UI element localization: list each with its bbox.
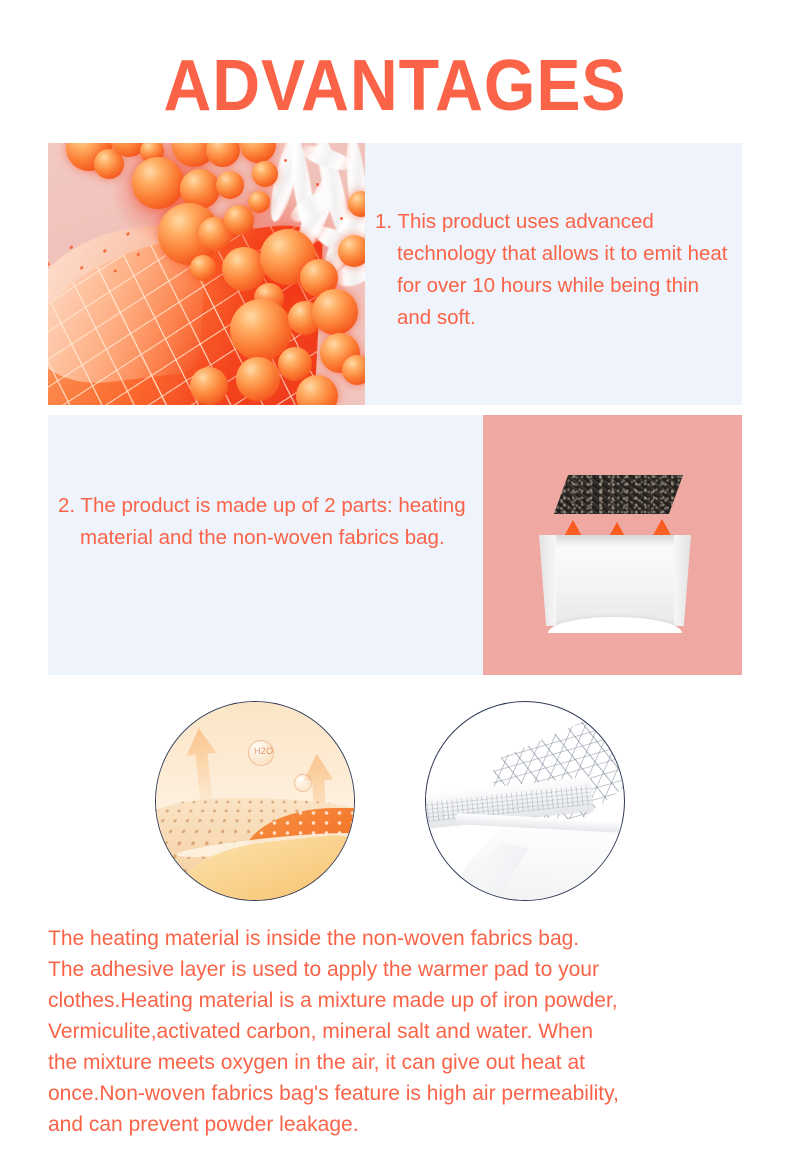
fiber-speck [340,217,343,220]
fiber-speck [284,159,287,162]
heat-sphere [296,375,338,405]
advantage-2-text: 2. The product is made up of 2 parts: he… [58,490,478,554]
heat-sphere [132,157,184,209]
heat-sphere [252,161,278,187]
heat-sphere [190,255,216,281]
description-line: Vermiculite,activated carbon, mineral sa… [48,1016,760,1047]
heat-sphere [278,347,312,381]
heating-material-image [483,415,742,675]
page-title: ADVANTAGES [32,50,759,122]
bag-body [539,535,691,626]
advantage-1-text: 1. This product uses advanced technology… [375,206,735,334]
non-woven-bag [539,535,691,626]
heat-molecules-image [48,143,365,405]
description-line: clothes.Heating material is a mixture ma… [48,985,760,1016]
heat-sphere [190,367,228,405]
heat-sphere [224,205,254,235]
heating-material-slab [554,475,683,514]
bottom-fabric-sheet [432,820,625,901]
heat-sphere [342,355,365,385]
h2o-label: H2O [254,746,273,756]
description-paragraph: The heating material is inside the non-w… [48,923,760,1140]
breathability-diagram: H2O [155,701,355,901]
heat-sphere [312,289,358,335]
bag-left-edge [539,535,556,626]
description-line: the mixture meets oxygen in the air, it … [48,1047,760,1078]
heat-sphere [240,143,276,163]
fiber-speck [316,183,319,186]
description-line: once.Non-woven fabrics bag's feature is … [48,1078,760,1109]
description-line: The heating material is inside the non-w… [48,923,760,954]
heat-sphere [338,235,365,267]
heat-sphere [248,191,270,213]
description-line: The adhesive layer is used to apply the … [48,954,760,985]
heat-sphere [236,357,280,401]
bag-right-edge [674,535,691,626]
bag-top-shadow [551,535,679,547]
non-woven-fabric-diagram [425,701,625,901]
water-droplet [294,774,312,792]
advantages-infographic: ADVANTAGES [0,0,790,1154]
heat-sphere [216,171,244,199]
description-line: and can prevent powder leakage. [48,1109,760,1140]
